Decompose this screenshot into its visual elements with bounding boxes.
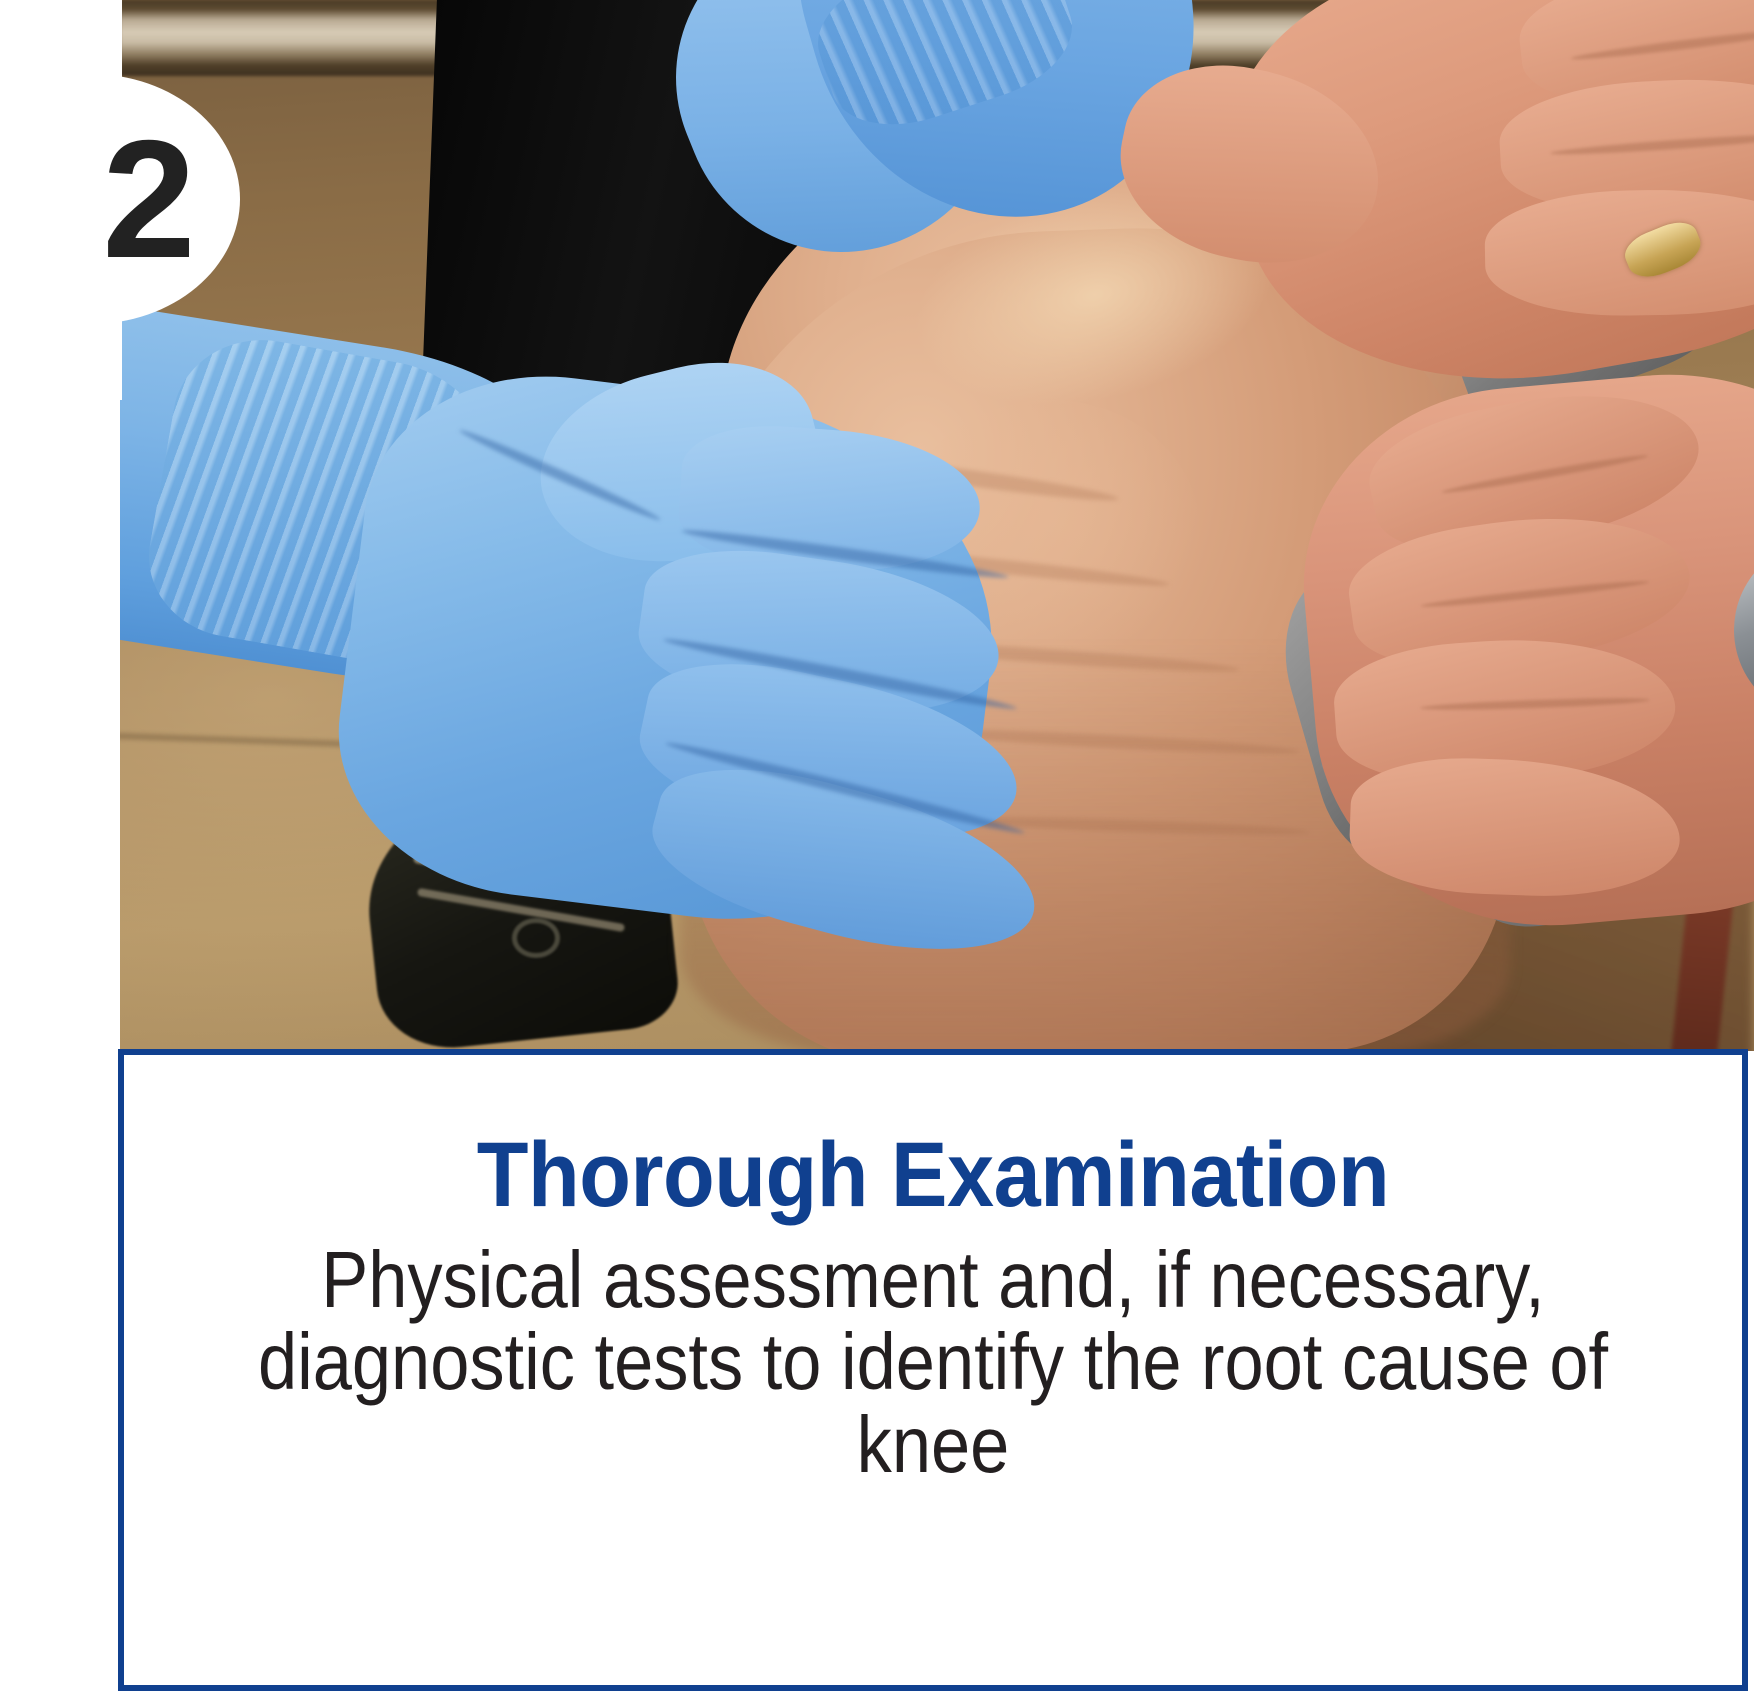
step-number-badge: 2 [0, 74, 240, 324]
examination-photo [120, 0, 1754, 1051]
step-description: Physical assessment and, if necessary, d… [221, 1221, 1645, 1486]
shoe-eyelet [512, 918, 560, 958]
step-text-box: Thorough Examination Physical assessment… [118, 1049, 1748, 1691]
step-title: Thorough Examination [189, 1055, 1678, 1221]
infographic-step-card: 2 Thorough Examination Physical assessme… [0, 0, 1754, 1697]
step-number-label: 2 [0, 74, 240, 324]
